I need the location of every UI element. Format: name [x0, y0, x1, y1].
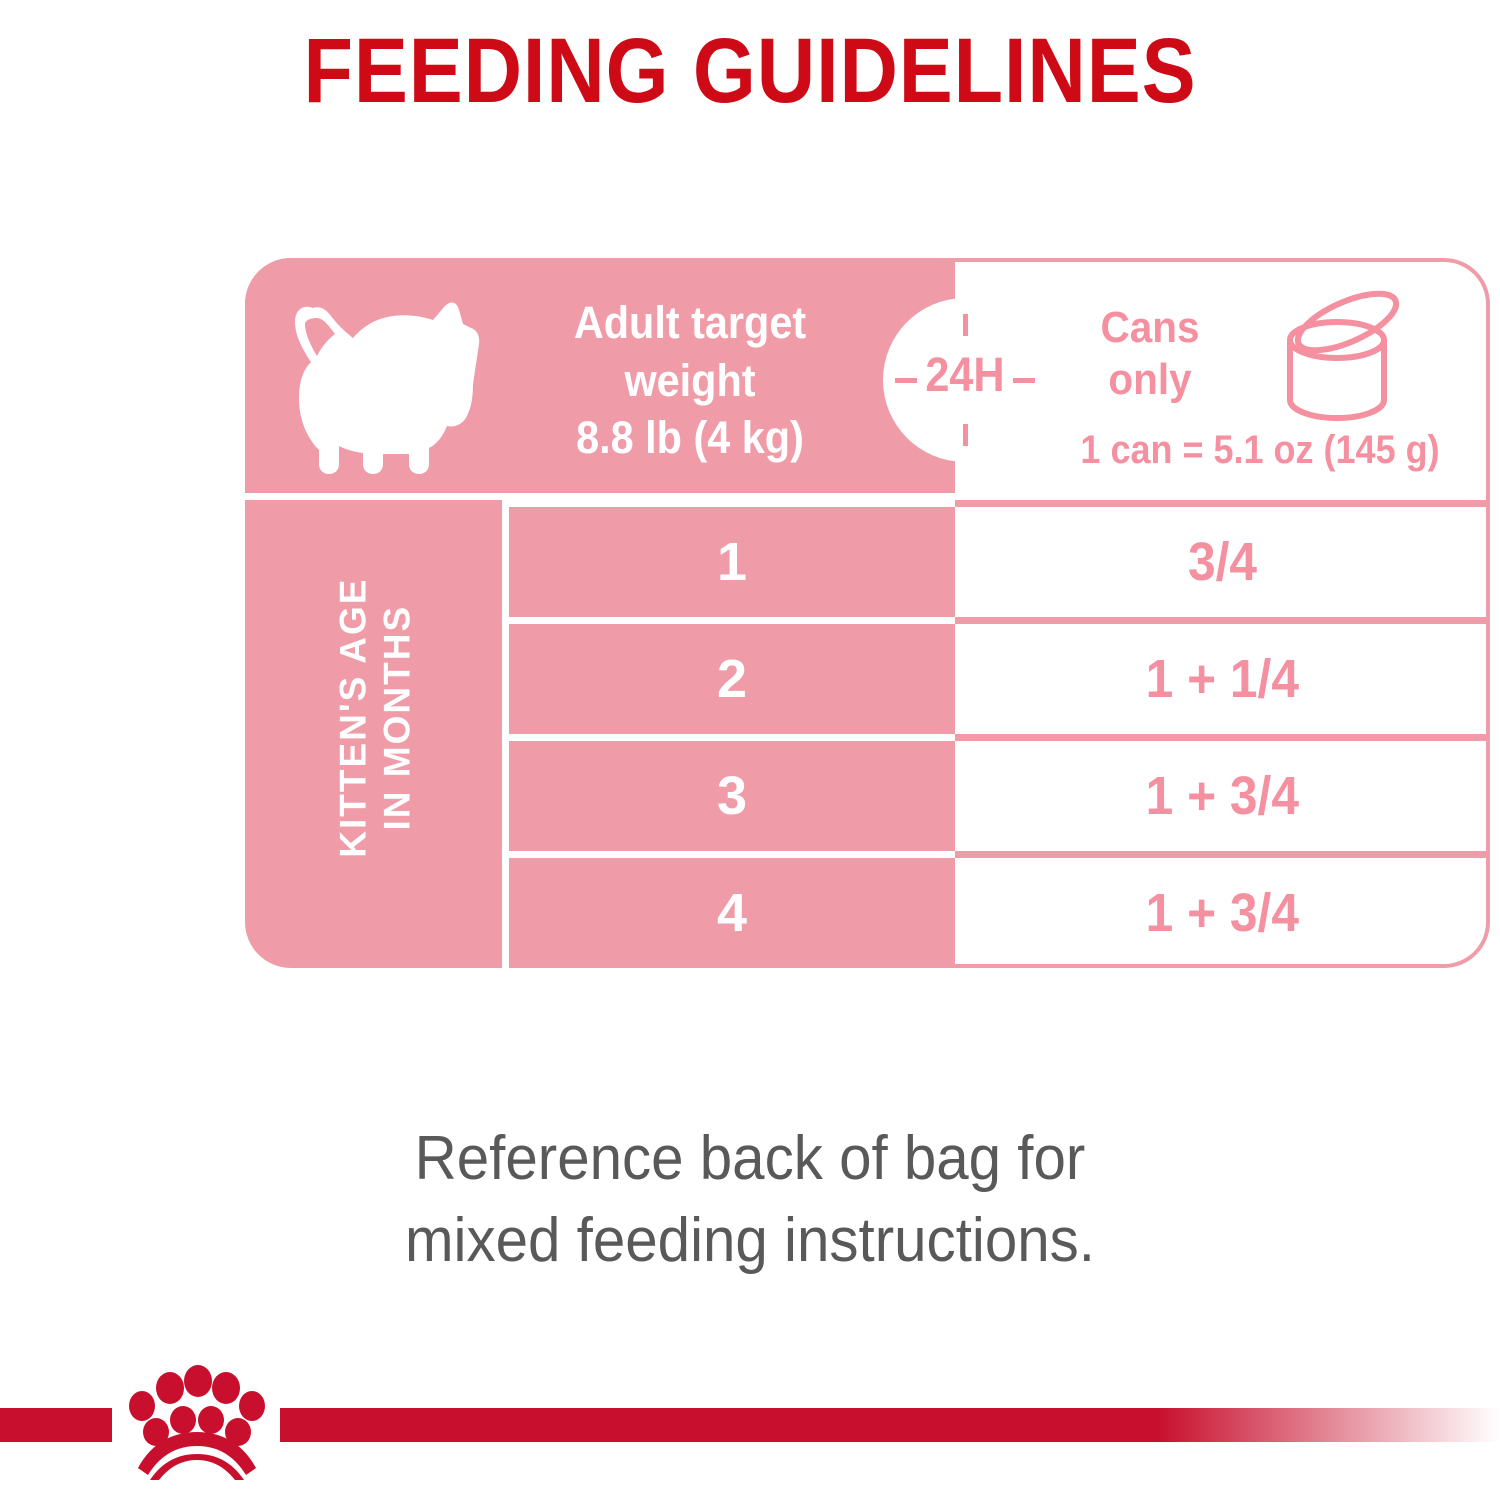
table-header-row: Adult target weight 8.8 lb (4 kg) 24H Ca…: [245, 258, 1490, 500]
kitten-silhouette-icon: [273, 278, 503, 478]
age-label-line2: IN MONTHS: [375, 484, 419, 952]
footer-note: Reference back of bag for mixed feeding …: [186, 1118, 1314, 1282]
table-row: 3: [509, 734, 955, 851]
age-value: 1: [717, 531, 747, 593]
page-title: FEEDING GUIDELINES: [90, 22, 1410, 121]
brand-bar-left: [0, 1408, 112, 1442]
amount-value: 1 + 3/4: [1146, 882, 1299, 944]
royal-canin-crown-logo: [112, 1362, 280, 1480]
table-row: 1 + 1/4: [955, 617, 1490, 734]
amount-column: 3/4 1 + 1/4 1 + 3/4 1 + 3/4: [955, 500, 1490, 968]
column-divider: [502, 500, 509, 968]
table-row: 1 + 3/4: [955, 851, 1490, 968]
clock-tick-bottom: [963, 424, 968, 446]
open-can-icon: [1255, 288, 1440, 428]
24h-badge-label: 24H: [891, 348, 1039, 403]
table-row: 3/4: [955, 500, 1490, 617]
24h-badge: 24H: [883, 298, 1047, 462]
kittens-age-axis-label: KITTEN'S AGE IN MONTHS: [245, 500, 505, 968]
adult-weight-line3: 8.8 lb (4 kg): [506, 409, 874, 467]
age-value: 2: [717, 648, 747, 710]
cans-label-line2: only: [1063, 354, 1238, 406]
amount-value: 1 + 3/4: [1146, 765, 1299, 827]
kittens-age-axis-text: KITTEN'S AGE IN MONTHS: [331, 484, 418, 952]
can-equivalence-label: 1 can = 5.1 oz (145 g): [1049, 428, 1472, 473]
age-column: 1 2 3 4: [509, 500, 955, 968]
cans-info-block: Cans only 1 can = 5.1 oz (145 g): [1045, 280, 1485, 480]
adult-weight-line2: weight: [506, 352, 874, 410]
age-value: 4: [717, 882, 747, 944]
table-row: 2: [509, 617, 955, 734]
table-row: 4: [509, 851, 955, 968]
cans-only-label: Cans only: [1063, 302, 1238, 406]
amount-value: 3/4: [1188, 531, 1257, 593]
age-label-line1: KITTEN'S AGE: [331, 484, 375, 952]
header-divider: [245, 493, 955, 500]
footer-line1: Reference back of bag for: [186, 1118, 1314, 1200]
feeding-guidelines-table: Adult target weight 8.8 lb (4 kg) 24H Ca…: [245, 258, 1490, 968]
footer-line2: mixed feeding instructions.: [186, 1200, 1314, 1282]
clock-tick-top: [963, 314, 968, 336]
brand-bar-right: [280, 1408, 1500, 1442]
table-row: 1 + 3/4: [955, 734, 1490, 851]
table-row: 1: [509, 500, 955, 617]
cans-label-line1: Cans: [1063, 302, 1238, 354]
age-value: 3: [717, 765, 747, 827]
table-body: KITTEN'S AGE IN MONTHS 1 2 3 4 3/4 1 + 1…: [245, 500, 1490, 968]
adult-target-weight: Adult target weight 8.8 lb (4 kg): [506, 294, 874, 467]
adult-weight-line1: Adult target: [506, 294, 874, 352]
amount-value: 1 + 1/4: [1146, 648, 1299, 710]
